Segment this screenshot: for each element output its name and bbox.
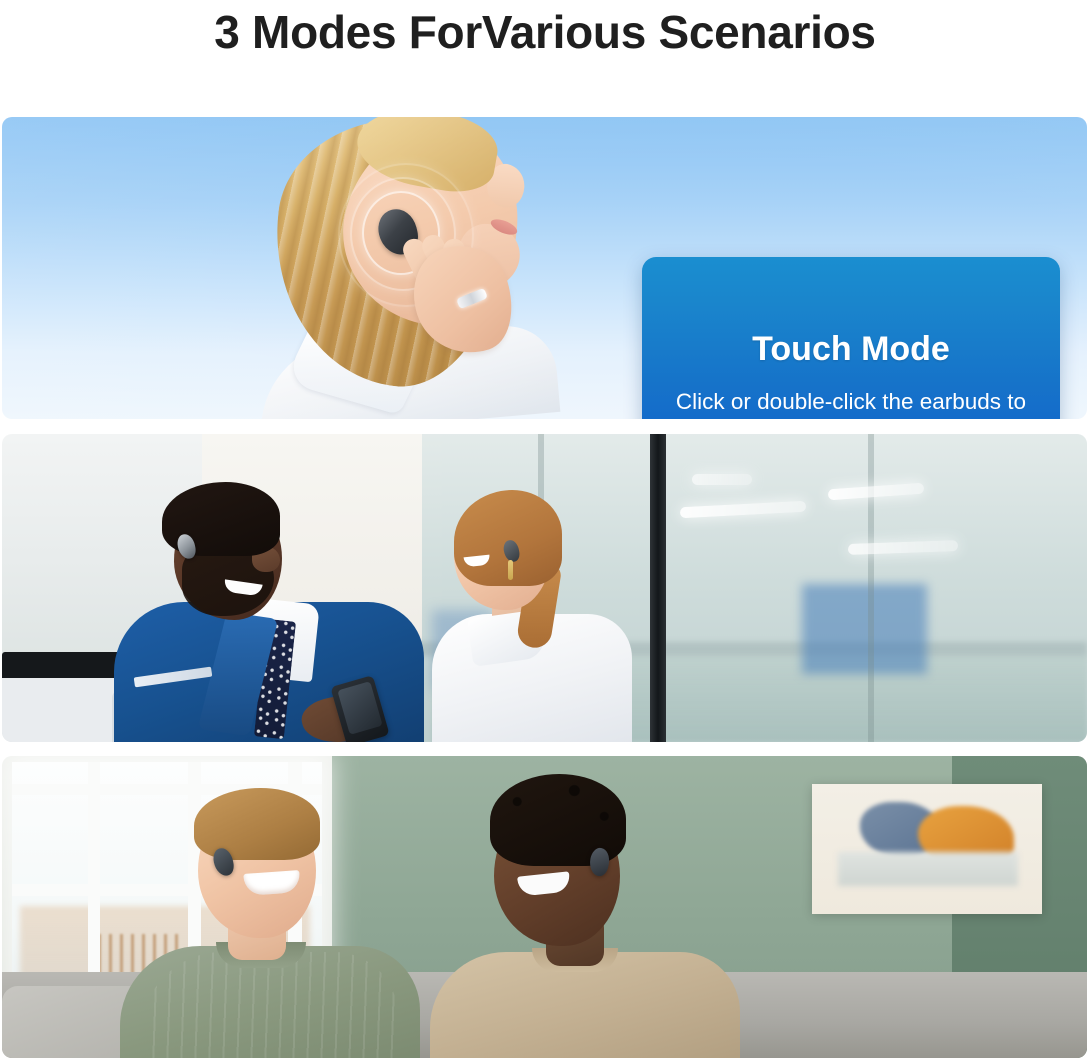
glass-mullion xyxy=(868,434,874,742)
photo-speaker-mode xyxy=(2,434,1087,742)
photo-free-speech-mode xyxy=(2,756,1087,1058)
earring xyxy=(508,560,513,580)
card-title-touch-mode: Touch Mode xyxy=(752,330,950,369)
panel-free-speech-mode: Free speech mode Both parties wear one e… xyxy=(2,756,1087,1058)
blue-office-furniture xyxy=(802,584,927,674)
product-feature-page: 3 Modes ForVarious Scenarios xyxy=(0,0,1090,1060)
panel-speaker-mode: Speaker Mode Talk into your phone and li… xyxy=(2,434,1087,742)
card-body-touch-mode: Click or double-click the earbuds to tra… xyxy=(675,387,1027,419)
card-touch-mode: Touch Mode Click or double-click the ear… xyxy=(642,257,1060,419)
page-title: 3 Modes ForVarious Scenarios xyxy=(0,2,1090,62)
ceiling-light xyxy=(692,474,752,485)
wall-art-shape xyxy=(838,852,1018,886)
panel-touch-mode: Touch Mode Click or double-click the ear… xyxy=(2,117,1087,419)
dark-structural-post xyxy=(650,434,666,742)
hair xyxy=(194,788,320,860)
